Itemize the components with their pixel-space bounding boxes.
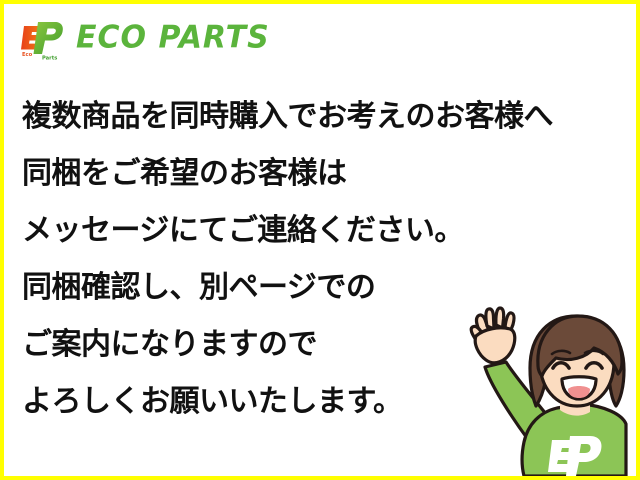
message-line: メッセージにてご連絡ください。 bbox=[22, 202, 626, 259]
logo-sub-parts: Parts bbox=[42, 56, 57, 61]
logo-sub-eco: Eco bbox=[22, 52, 33, 58]
brand-header: Eco Parts ECO PARTS bbox=[18, 12, 270, 64]
mascot-hand-icon bbox=[471, 308, 515, 363]
eco-parts-logo-icon: Eco Parts bbox=[18, 16, 66, 60]
brand-wordmark: ECO PARTS bbox=[76, 22, 270, 54]
eco-parts-banner: Eco Parts ECO PARTS 複数商品を同時購入でお考えのお客様へ 同… bbox=[0, 0, 640, 480]
waving-woman-mascot-illustration bbox=[454, 296, 630, 476]
message-line: 複数商品を同時購入でお考えのお客様へ bbox=[22, 88, 626, 145]
message-line: 同梱をご希望のお客様は bbox=[22, 145, 626, 202]
